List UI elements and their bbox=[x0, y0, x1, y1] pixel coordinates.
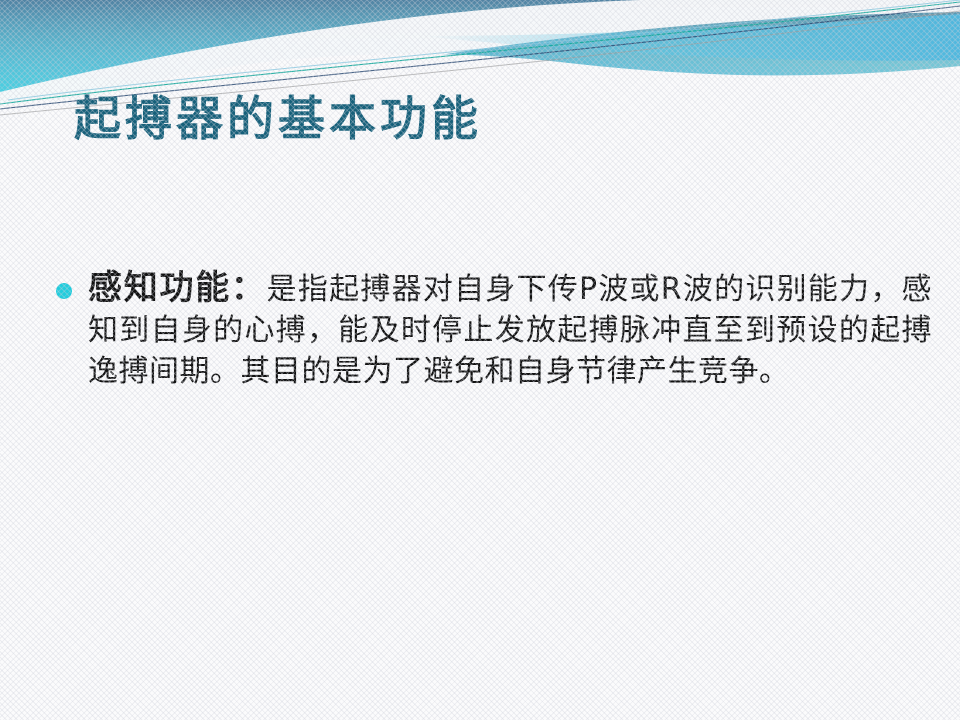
slide-body: 感知功能：是指起搏器对自身下传P波或R波的识别能力，感知到自身的心搏，能及时停止… bbox=[52, 268, 932, 392]
bullet-lead-label: 感知功能： bbox=[88, 268, 267, 308]
slide-canvas: 起搏器的基本功能 感知功能：是指起搏器对自身下传P波或R波的识别能力，感知到自身… bbox=[0, 0, 960, 720]
slide-title: 起搏器的基本功能 bbox=[74, 96, 482, 143]
list-item: 感知功能：是指起搏器对自身下传P波或R波的识别能力，感知到自身的心搏，能及时停止… bbox=[52, 268, 932, 392]
bullet-paragraph: 感知功能：是指起搏器对自身下传P波或R波的识别能力，感知到自身的心搏，能及时停止… bbox=[88, 268, 932, 392]
bullet-dot-icon bbox=[56, 283, 72, 299]
